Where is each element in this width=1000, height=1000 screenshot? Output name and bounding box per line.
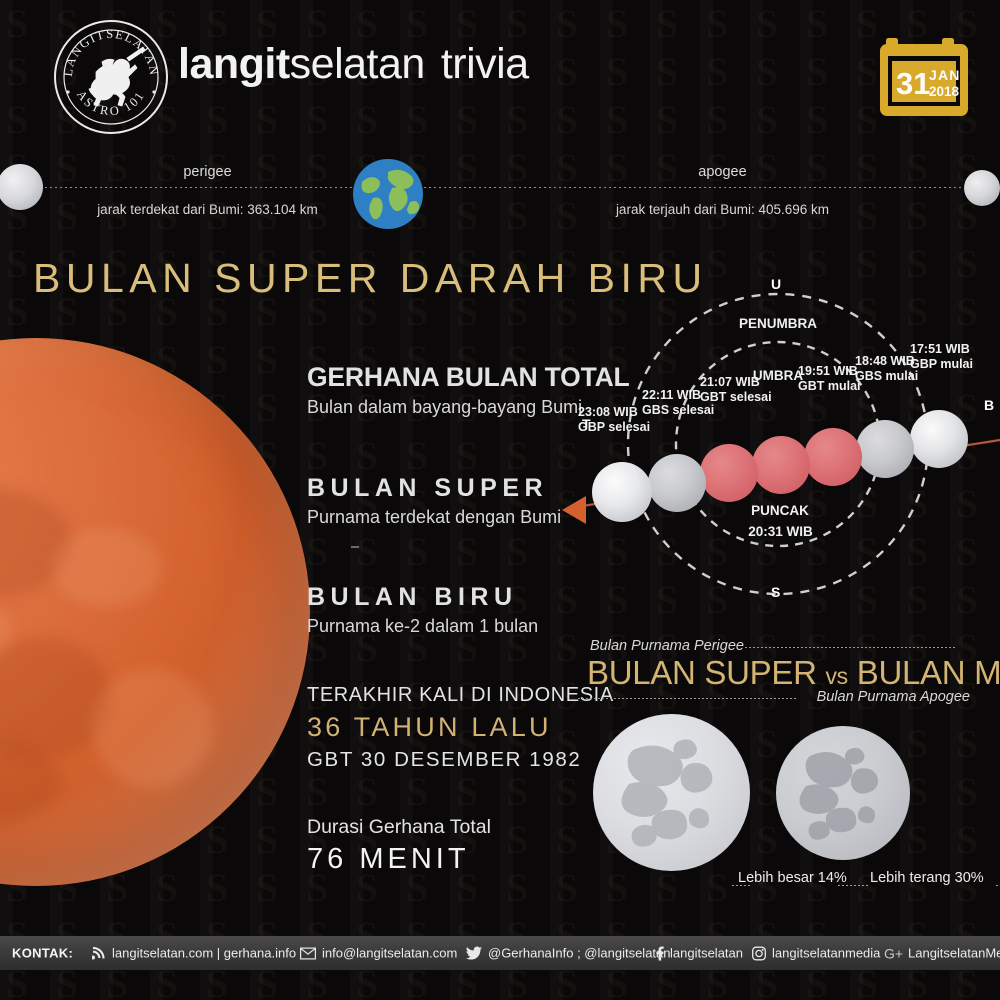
minimoon-maria <box>776 726 910 860</box>
earth-icon <box>352 158 424 230</box>
blood-moon-photo <box>0 338 310 886</box>
apogee-distance: jarak terjauh dari Bumi: 405.696 km <box>575 202 870 217</box>
orbit-distance-row: perigee jarak terdekat dari Bumi: 363.10… <box>0 150 1000 230</box>
phase-event: GBP mulai <box>910 357 973 371</box>
footer-item-googleplus[interactable]: G+ LangitselatanMedia <box>884 946 1000 961</box>
footer-item-instagram[interactable]: langitselatanmedia <box>752 946 880 961</box>
perigee-label: perigee <box>115 164 300 180</box>
rss-icon <box>92 946 106 960</box>
footer-item-facebook[interactable]: langitselatan <box>655 946 743 961</box>
minimoon-disc <box>776 726 910 860</box>
footer-item-website[interactable]: langitselatan.com | gerhana.info <box>92 946 296 961</box>
fact-subtitle: Purnama terdekat dengan Bumi <box>307 507 561 528</box>
phase-event: GBS selesai <box>642 403 714 417</box>
fact-bluemoon: BULAN BIRU Purnama ke-2 dalam 1 bulan <box>307 583 538 637</box>
contact-footer: KONTAK: langitselatan.com | gerhana.info… <box>0 936 1000 970</box>
phase-event: GBS mulai <box>855 369 918 383</box>
compare-title-left: BULAN SUPER <box>587 654 817 691</box>
phase-time: 23:08 WIB <box>578 405 638 419</box>
eclipse-moon-peak <box>752 436 810 494</box>
kontak-label: KONTAK: <box>12 946 73 961</box>
cardinal-south: S <box>771 584 780 600</box>
duration-label: Durasi Gerhana Total <box>307 816 491 839</box>
phase-event: GBT selesai <box>700 390 772 404</box>
header: LANGITSELATAN ASTRO 101 langitselatantr <box>0 0 1000 148</box>
compare-title-vs: vs <box>825 663 847 689</box>
langitselatan-logo: LANGITSELATAN ASTRO 101 <box>52 18 170 136</box>
fact-supermoon: BULAN SUPER Purnama terdekat dengan Bumi <box>307 474 561 528</box>
fact-subtitle: Purnama ke-2 dalam 1 bulan <box>307 616 538 637</box>
footer-item-twitter[interactable]: @GerhanaInfo ; @langitselatan <box>466 946 671 961</box>
perigee-distance: jarak terdekat dari Bumi: 363.104 km <box>60 202 355 217</box>
footer-item-label: info@langitselatan.com <box>322 946 457 961</box>
apogee-moon-icon <box>964 170 1000 206</box>
caption-brighter: Lebih terang 30% <box>870 870 984 886</box>
twitter-icon <box>466 947 482 960</box>
phase-time: 21:07 WIB <box>700 375 760 389</box>
peak-label: PUNCAK <box>730 503 830 518</box>
eclipse-moon-gbp-mulai <box>910 410 968 468</box>
penumbra-label: PENUMBRA <box>718 316 838 331</box>
eclipse-moon-gbs-mulai <box>856 420 914 478</box>
calendar-badge: 31 JAN 2018 <box>880 32 972 124</box>
cardinal-west: B <box>984 397 994 413</box>
phase-event: GBP selesai <box>578 420 650 434</box>
caption-right-dash <box>996 885 1000 886</box>
cardinal-north: U <box>771 276 781 292</box>
brand-light: selatan <box>290 40 425 88</box>
supermoon-vs-minimoon: Bulan Purnama Perigee BULAN SUPER vs BUL… <box>560 630 1000 910</box>
facebook-icon <box>655 946 664 960</box>
compare-top-dash <box>745 647 957 648</box>
footer-item-label: langitselatanmedia <box>772 946 880 961</box>
fact-heading: BULAN BIRU <box>307 583 538 612</box>
phase-label-gbp-selesai: 23:08 WIB GBP selesai <box>578 405 650 435</box>
supermoon-disc <box>593 714 750 871</box>
eclipse-moon-gbp-selesai <box>592 462 652 522</box>
compare-top-label: Bulan Purnama Perigee <box>590 638 744 654</box>
googleplus-icon: G+ <box>884 946 908 960</box>
duration-value: 76 MENIT <box>307 843 491 876</box>
footer-item-label: LangitselatanMedia <box>908 946 1000 961</box>
footer-item-email[interactable]: info@langitselatan.com <box>300 946 457 961</box>
caption-mid-dash <box>838 885 870 886</box>
phase-label-gbt-selesai: 21:07 WIB GBT selesai <box>700 375 772 405</box>
peak-time: 20:31 WIB <box>723 524 838 539</box>
calendar-year: 2018 <box>929 84 960 99</box>
divider-dash <box>351 546 359 548</box>
eclipse-moon-gbt-mulai <box>804 428 862 486</box>
perigee-dotted-line <box>40 187 352 189</box>
footer-item-label: langitselatan <box>670 946 743 961</box>
phase-time: 18:48 WIB <box>855 354 915 368</box>
eclipse-path-diagram: U S T B PENUMBRA UMBRA PUNCAK 20:31 WIB … <box>560 272 1000 617</box>
fact-heading: BULAN SUPER <box>307 474 561 503</box>
compare-title: BULAN SUPER vs BULAN MINI <box>587 654 1000 692</box>
perigee-moon-icon <box>0 164 43 210</box>
duration-block: Durasi Gerhana Total 76 MENIT <box>307 816 491 876</box>
infographic-root: SSSSSSSSSSSSSSSSSSSSSSSSSSSSSSSSSSSSSSSS… <box>0 0 1000 1000</box>
phase-label-gbp-mulai: 17:51 WIB GBP mulai <box>910 342 973 372</box>
phase-time: 22:11 WIB <box>642 388 701 402</box>
instagram-icon <box>752 946 766 960</box>
brand-trivia: trivia <box>441 40 529 88</box>
phase-label-gbt-mulai: 19:51 WIB GBT mulai <box>798 364 861 394</box>
eclipse-moon-gbs-selesai <box>648 454 706 512</box>
apogee-label: apogee <box>630 164 815 180</box>
caption-bigger: Lebih besar 14% <box>738 870 847 886</box>
footer-item-label: @GerhanaInfo ; @langitselatan <box>488 946 671 961</box>
footer-item-label: langitselatan.com | gerhana.info <box>112 946 296 961</box>
svg-text:G+: G+ <box>884 946 903 960</box>
calendar-day: 31 <box>896 66 930 101</box>
calendar-month: JAN <box>929 67 961 83</box>
brand-wordmark: langitselatantrivia <box>178 40 529 89</box>
supermoon-maria <box>593 714 750 871</box>
compare-title-right: BULAN MINI <box>857 654 1000 691</box>
compare-bottom-label: Bulan Purnama Apogee <box>817 689 970 705</box>
apogee-dotted-line <box>424 187 964 189</box>
eclipse-moon-gbt-selesai <box>700 444 758 502</box>
phase-event: GBT mulai <box>798 379 861 393</box>
phase-time: 19:51 WIB <box>798 364 858 378</box>
brand-bold: langit <box>178 40 290 88</box>
phase-time: 17:51 WIB <box>910 342 970 356</box>
phase-label-gbs-mulai: 18:48 WIB GBS mulai <box>855 354 918 384</box>
envelope-icon <box>300 947 316 959</box>
compare-bottom-dash <box>578 698 796 699</box>
